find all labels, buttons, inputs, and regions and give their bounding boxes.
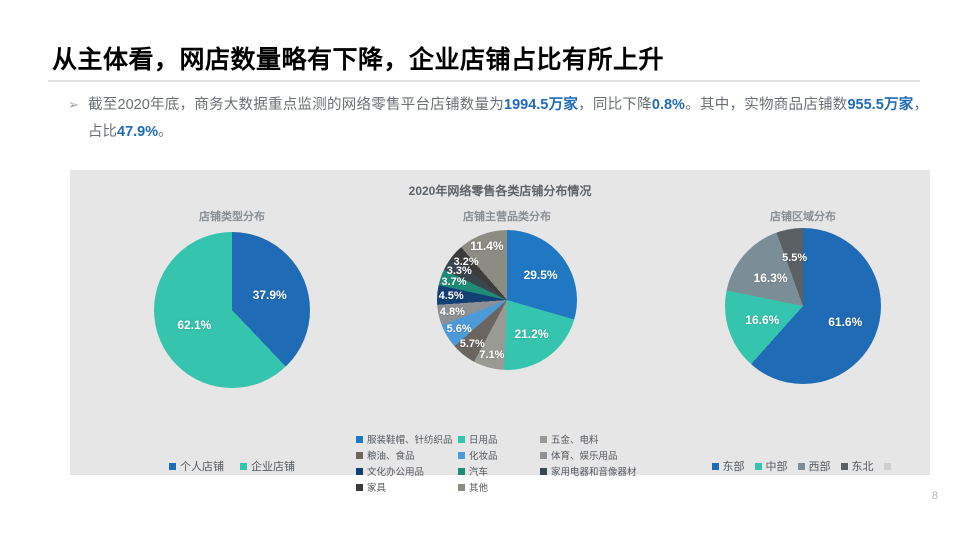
legend-swatch-icon [169,463,176,470]
paragraph-part-5: 。 [158,124,173,140]
pie-slice-label: 16.6% [745,313,779,327]
pie-slice-label: 61.6% [828,315,862,329]
legend-swatch-icon [356,452,363,459]
chart-store-type-pie [154,232,310,388]
legend-label: 中部 [766,458,788,474]
legend-swatch-icon [356,484,363,491]
pie-slice-label: 16.3% [754,271,788,285]
highlight-physical-stores: 955.5万家 [847,97,913,113]
bullet-arrow-icon: ➢ [68,92,88,118]
pie-slice-label: 5.7% [460,338,485,350]
legend-item-empty [884,458,895,474]
legend-label: 家具 [367,480,386,494]
pie-slice-label: 21.2% [514,327,548,341]
legend-label: 化妆品 [469,448,498,462]
legend-item[interactable]: 服装鞋帽、针纺织品 [356,432,452,446]
legend-label: 文化办公用品 [367,464,424,478]
legend-item[interactable]: 日用品 [458,432,534,446]
legend-swatch-icon [458,436,465,443]
legend-swatch-icon [540,468,547,475]
pie-slice-label: 3.7% [441,276,466,288]
legend-swatch-icon [755,463,762,470]
pie-slice-label: 37.9% [253,288,287,302]
pie-slice-label: 4.5% [439,290,464,302]
legend-item[interactable]: 化妆品 [458,448,534,462]
legend-swatch-icon [884,463,891,470]
summary-paragraph: 截至2020年底，商务大数据重点监测的网络零售平台店铺数量为1994.5万家，同… [88,92,928,146]
legend-swatch-icon [540,436,547,443]
legend-swatch-icon [356,436,363,443]
pie-slice-label: 11.4% [470,239,503,253]
pie-slice-label: 5.6% [447,323,472,335]
legend-label: 家用电器和音像器材 [551,464,637,478]
legend-swatch-icon [458,468,465,475]
highlight-yoy-change: 0.8% [652,97,685,113]
highlight-total-stores: 1994.5万家 [504,97,578,113]
legend-item[interactable]: 东北 [841,458,874,474]
page-title: 从主体看，网店数量略有下降，企业店铺占比有所上升 [52,40,912,76]
legend-item[interactable]: 粮油、食品 [356,448,452,462]
chart-store-category-title: 店铺主营品类分布 [342,208,672,224]
paragraph-part-2: ，同比下降 [578,97,652,113]
paragraph-part-3: 。其中，实物商品店铺数 [685,97,848,113]
legend-label: 日用品 [469,432,498,446]
legend-item[interactable]: 企业店铺 [240,458,295,474]
legend-item[interactable]: 家用电器和音像器材 [540,464,658,478]
legend-label: 个人店铺 [180,458,224,474]
legend-label: 西部 [809,458,831,474]
legend-swatch-icon [240,463,247,470]
legend-label: 服装鞋帽、针纺织品 [367,432,453,446]
legend-swatch-icon [356,468,363,475]
legend-label: 体育、娱乐用品 [551,448,618,462]
legend-swatch-icon [458,452,465,459]
page-number: 8 [932,490,938,502]
charts-panel: 2020年网络零售各类店铺分布情况 店铺类型分布 个人店铺企业店铺 37.9%6… [70,170,930,475]
chart-store-region-title: 店铺区域分布 [678,208,928,224]
highlight-physical-share: 47.9% [117,124,158,140]
chart-store-type: 店铺类型分布 个人店铺企业店铺 37.9%62.1% [92,200,372,475]
pie-slice-label: 7.1% [479,349,504,361]
pie-slice-label: 62.1% [177,318,211,332]
legend-swatch-icon [712,463,719,470]
chart-store-type-title: 店铺类型分布 [92,208,372,224]
legend-label: 粮油、食品 [367,448,415,462]
chart-store-region-legend: 东部中部西部东北 [678,458,928,474]
legend-item[interactable]: 家具 [356,480,452,494]
summary-bullet: ➢ 截至2020年底，商务大数据重点监测的网络零售平台店铺数量为1994.5万家… [68,92,928,146]
legend-swatch-icon [798,463,805,470]
chart-store-category-legend: 服装鞋帽、针纺织品日用品五金、电料粮油、食品化妆品体育、娱乐用品文化办公用品汽车… [342,432,672,494]
legend-label: 其他 [469,480,488,494]
panel-title: 2020年网络零售各类店铺分布情况 [70,182,930,199]
chart-store-region: 店铺区域分布 东部中部西部东北 61.6%16.6%16.3%5.5% [678,200,928,475]
legend-swatch-icon [458,484,465,491]
legend-swatch-icon [540,452,547,459]
chart-store-category: 店铺主营品类分布 服装鞋帽、针纺织品日用品五金、电料粮油、食品化妆品体育、娱乐用… [342,200,672,475]
legend-item[interactable]: 东部 [712,458,745,474]
legend-label: 东北 [852,458,874,474]
legend-item[interactable]: 文化办公用品 [356,464,452,478]
legend-label: 东部 [723,458,745,474]
legend-label: 企业店铺 [251,458,295,474]
pie-slice-label: 3.2% [454,256,479,268]
legend-item[interactable]: 五金、电料 [540,432,658,446]
title-divider [48,80,920,82]
slide-root: 从主体看，网店数量略有下降，企业店铺占比有所上升 ➢ 截至2020年底，商务大数… [0,0,960,540]
legend-item[interactable]: 汽车 [458,464,534,478]
pie-slice-label: 29.5% [524,268,558,282]
legend-item[interactable]: 其他 [458,480,534,494]
legend-item[interactable]: 体育、娱乐用品 [540,448,658,462]
pie-slice-label: 5.5% [782,252,807,264]
legend-label: 汽车 [469,464,488,478]
legend-item[interactable]: 西部 [798,458,831,474]
legend-label: 五金、电料 [551,432,599,446]
paragraph-part-1: 截至2020年底，商务大数据重点监测的网络零售平台店铺数量为 [88,97,504,113]
legend-item[interactable]: 个人店铺 [169,458,224,474]
legend-swatch-icon [841,463,848,470]
legend-item[interactable]: 中部 [755,458,788,474]
pie-slice-label: 4.8% [440,306,465,318]
chart-store-type-legend: 个人店铺企业店铺 [92,458,372,474]
